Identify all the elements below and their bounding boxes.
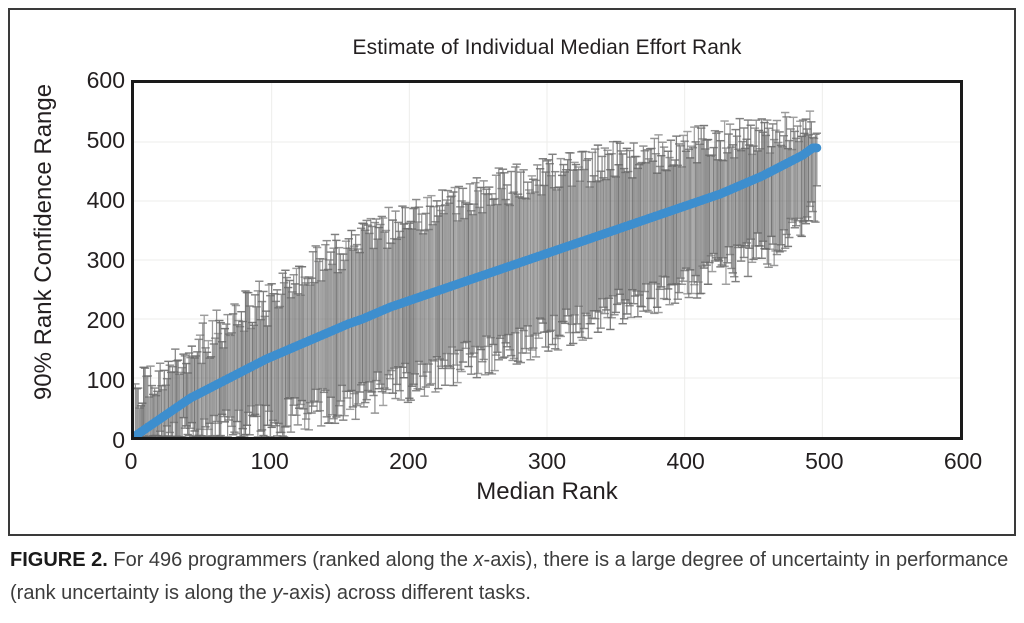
x-tick-0: 0: [91, 450, 171, 473]
y-tick-500: 500: [65, 129, 125, 152]
x-tick-600: 600: [923, 450, 1003, 473]
figure-caption: FIGURE 2. For 496 programmers (ranked al…: [10, 544, 1014, 610]
plot-area: [131, 80, 963, 440]
y-axis-tick-labels: 0100200300400500600: [55, 80, 125, 440]
caption-text-1: For 496 programmers (ranked along the: [108, 549, 474, 571]
figure-number: FIGURE 2.: [10, 549, 108, 571]
chart-title: Estimate of Individual Median Effort Ran…: [131, 36, 963, 60]
y-tick-300: 300: [65, 249, 125, 272]
x-axis-label: Median Rank: [131, 478, 963, 506]
y-tick-200: 200: [65, 309, 125, 332]
x-tick-400: 400: [646, 450, 726, 473]
x-tick-300: 300: [507, 450, 587, 473]
y-tick-100: 100: [65, 369, 125, 392]
x-tick-100: 100: [230, 450, 310, 473]
y-tick-400: 400: [65, 189, 125, 212]
x-tick-200: 200: [368, 450, 448, 473]
y-axis-label: 90% Rank Confidence Range: [30, 52, 58, 432]
caption-y-axis-italic: y: [272, 582, 282, 604]
scatter-plot-svg: [134, 83, 960, 437]
y-tick-600: 600: [65, 69, 125, 92]
figure-root: Estimate of Individual Median Effort Ran…: [0, 0, 1024, 623]
caption-text-3: -axis) across different tasks.: [282, 582, 531, 604]
caption-x-axis-italic: x: [474, 549, 484, 571]
y-tick-0: 0: [65, 429, 125, 452]
x-tick-500: 500: [784, 450, 864, 473]
x-axis-tick-labels: 0100200300400500600: [131, 450, 963, 480]
